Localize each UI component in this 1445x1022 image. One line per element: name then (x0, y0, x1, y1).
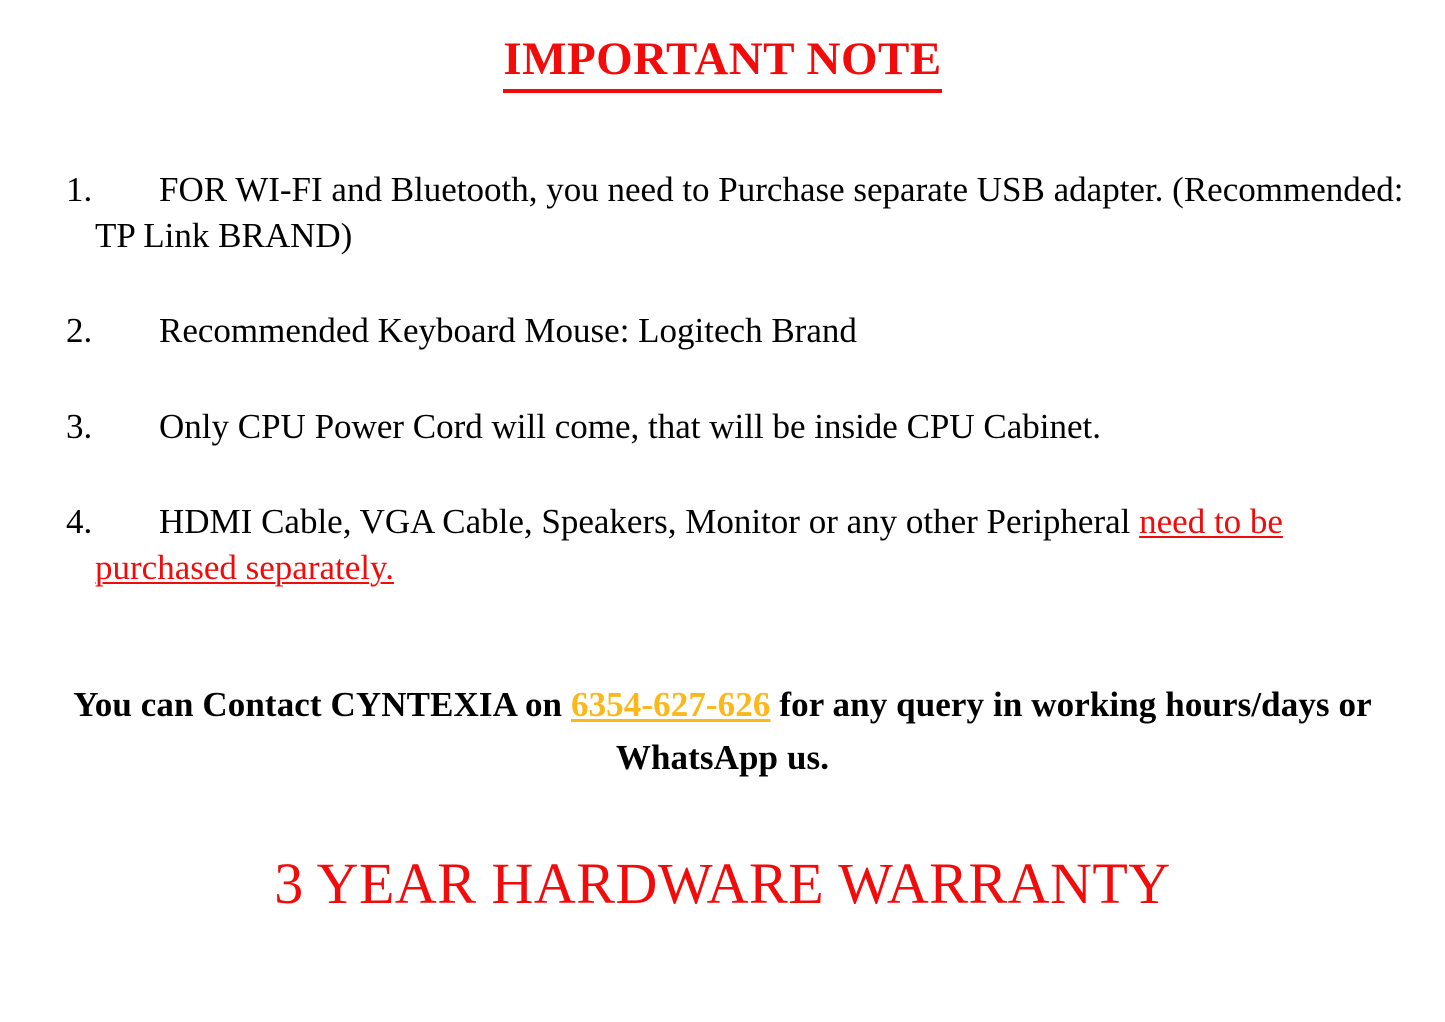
list-item: 4. HDMI Cable, VGA Cable, Speakers, Moni… (0, 499, 1445, 591)
list-item-number: 2. (66, 308, 92, 354)
note-page: IMPORTANT NOTE 1. FOR WI-FI and Bluetoot… (0, 0, 1445, 1022)
list-item-text: Only CPU Power Cord will come, that will… (95, 404, 1425, 450)
list-item-text: HDMI Cable, VGA Cable, Speakers, Monitor… (95, 499, 1425, 591)
numbered-notes-list: 1. FOR WI-FI and Bluetooth, you need to … (0, 167, 1445, 591)
contact-phone-number[interactable]: 6354-627-626 (571, 685, 771, 724)
warranty-banner: 3 YEAR HARDWARE WARRANTY (0, 852, 1445, 916)
list-item: 3. Only CPU Power Cord will come, that w… (0, 404, 1445, 450)
list-item: 1. FOR WI-FI and Bluetooth, you need to … (0, 167, 1445, 259)
contact-lead-text: You can Contact CYNTEXIA on (73, 685, 571, 724)
page-title-container: IMPORTANT NOTE (0, 34, 1445, 93)
list-item-text: Recommended Keyboard Mouse: Logitech Bra… (95, 308, 1425, 354)
list-item-text-plain: HDMI Cable, VGA Cable, Speakers, Monitor… (159, 502, 1139, 541)
list-item-text: FOR WI-FI and Bluetooth, you need to Pur… (95, 167, 1425, 259)
list-item-number: 3. (66, 404, 92, 450)
contact-paragraph: You can Contact CYNTEXIA on 6354-627-626… (50, 679, 1395, 784)
page-title: IMPORTANT NOTE (503, 34, 941, 93)
list-item-number: 4. (66, 499, 92, 545)
list-item-number: 1. (66, 167, 92, 213)
list-item: 2. Recommended Keyboard Mouse: Logitech … (0, 308, 1445, 354)
